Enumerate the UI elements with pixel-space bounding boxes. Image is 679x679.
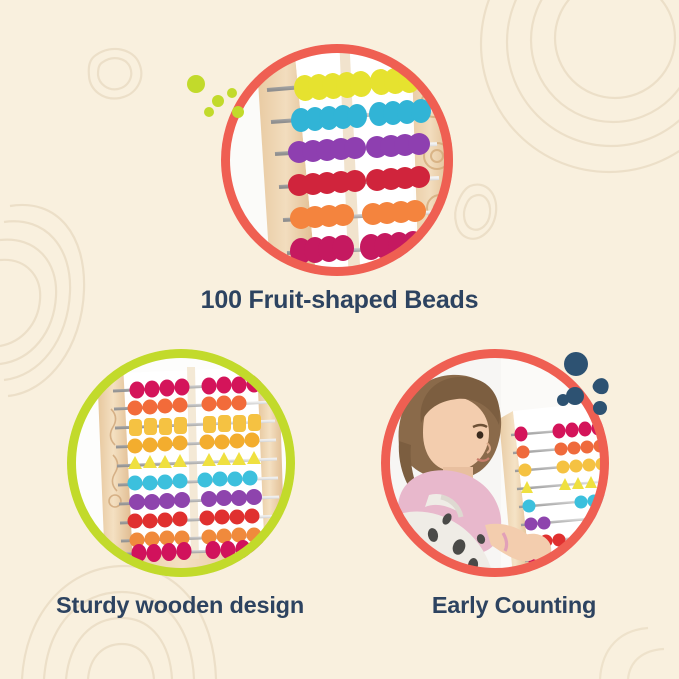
lime-dot-5 <box>232 106 244 118</box>
lime-dot-2 <box>212 95 224 107</box>
caption-sturdy: Sturdy wooden design <box>6 592 354 619</box>
navy-dot-5 <box>557 394 569 406</box>
photo-child-counting <box>381 349 609 577</box>
lime-dot-1 <box>187 75 205 93</box>
photo-beads-closeup <box>221 44 453 276</box>
child-counting-illustration <box>381 349 609 577</box>
photo-full-abacus <box>67 349 295 577</box>
lime-dot-4 <box>204 107 214 117</box>
beads-closeup-illustration <box>221 44 453 276</box>
navy-dot-1 <box>564 352 588 376</box>
full-abacus-illustration <box>67 349 295 577</box>
navy-dot-2 <box>566 387 584 405</box>
poster-canvas: 100 Fruit-shaped Beads <box>0 0 679 679</box>
lime-dot-3 <box>227 88 237 98</box>
caption-beads: 100 Fruit-shaped Beads <box>0 286 679 315</box>
navy-dot-4 <box>593 401 607 415</box>
caption-counting: Early Counting <box>356 592 672 619</box>
